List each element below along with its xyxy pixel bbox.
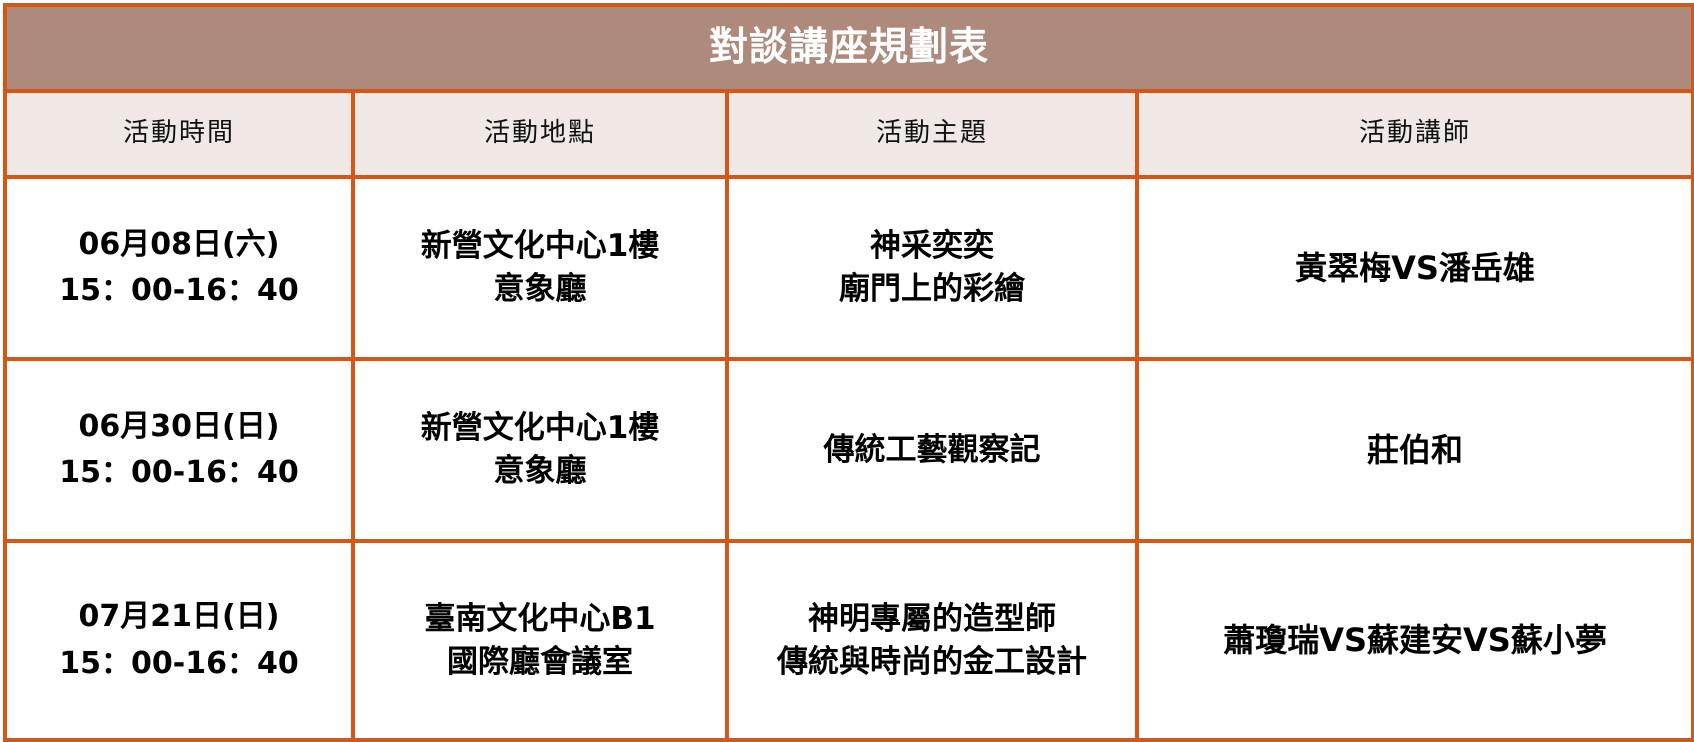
event-speaker: 蕭瓊瑞VS蘇建安VS蘇小夢 xyxy=(1139,618,1691,662)
page-title: 對談講座規劃表 xyxy=(7,27,1691,70)
event-place: 臺南文化中心B1 國際廳會議室 xyxy=(355,598,725,684)
event-time: 06月08日(六) 15：00-16：40 xyxy=(7,222,351,315)
table-row: 07月21日(日) 15：00-16：40 臺南文化中心B1 國際廳會議室 神明… xyxy=(5,541,1693,740)
cell-place: 新營文化中心1樓 意象廳 xyxy=(353,177,727,359)
cell-topic: 神采奕奕 廟門上的彩繪 xyxy=(727,177,1137,359)
column-header-label: 活動講師 xyxy=(1139,118,1691,149)
event-place: 新營文化中心1樓 意象廳 xyxy=(355,225,725,311)
event-speaker: 黃翠梅VS潘岳雄 xyxy=(1139,246,1691,290)
column-header-label: 活動地點 xyxy=(355,118,725,149)
table-header-row: 活動時間 活動地點 活動主題 活動講師 xyxy=(5,91,1693,177)
column-header-time: 活動時間 xyxy=(5,91,353,177)
table-title-cell: 對談講座規劃表 xyxy=(5,5,1693,91)
table-title-row: 對談講座規劃表 xyxy=(5,5,1693,91)
cell-time: 06月08日(六) 15：00-16：40 xyxy=(5,177,353,359)
column-header-label: 活動主題 xyxy=(729,118,1135,149)
event-time: 06月30日(日) 15：00-16：40 xyxy=(7,404,351,497)
event-time: 07月21日(日) 15：00-16：40 xyxy=(7,594,351,687)
cell-time: 07月21日(日) 15：00-16：40 xyxy=(5,541,353,740)
cell-speaker: 蕭瓊瑞VS蘇建安VS蘇小夢 xyxy=(1137,541,1693,740)
column-header-topic: 活動主題 xyxy=(727,91,1137,177)
cell-speaker: 黃翠梅VS潘岳雄 xyxy=(1137,177,1693,359)
cell-speaker: 莊伯和 xyxy=(1137,359,1693,541)
cell-topic: 傳統工藝觀察記 xyxy=(727,359,1137,541)
schedule-table-sheet: 對談講座規劃表 活動時間 活動地點 活動主題 活動講師 xyxy=(0,0,1694,721)
cell-topic: 神明專屬的造型師 傳統與時尚的金工設計 xyxy=(727,541,1137,740)
table-row: 06月08日(六) 15：00-16：40 新營文化中心1樓 意象廳 神采奕奕 … xyxy=(5,177,1693,359)
event-place: 新營文化中心1樓 意象廳 xyxy=(355,407,725,493)
event-topic: 神采奕奕 廟門上的彩繪 xyxy=(729,225,1135,311)
table-row: 06月30日(日) 15：00-16：40 新營文化中心1樓 意象廳 傳統工藝觀… xyxy=(5,359,1693,541)
cell-place: 臺南文化中心B1 國際廳會議室 xyxy=(353,541,727,740)
event-speaker: 莊伯和 xyxy=(1139,428,1691,472)
cell-time: 06月30日(日) 15：00-16：40 xyxy=(5,359,353,541)
event-topic: 傳統工藝觀察記 xyxy=(729,429,1135,472)
event-topic: 神明專屬的造型師 傳統與時尚的金工設計 xyxy=(729,598,1135,684)
column-header-label: 活動時間 xyxy=(7,118,351,149)
lecture-schedule-table: 對談講座規劃表 活動時間 活動地點 活動主題 活動講師 xyxy=(3,3,1694,742)
column-header-speaker: 活動講師 xyxy=(1137,91,1693,177)
cell-place: 新營文化中心1樓 意象廳 xyxy=(353,359,727,541)
column-header-place: 活動地點 xyxy=(353,91,727,177)
